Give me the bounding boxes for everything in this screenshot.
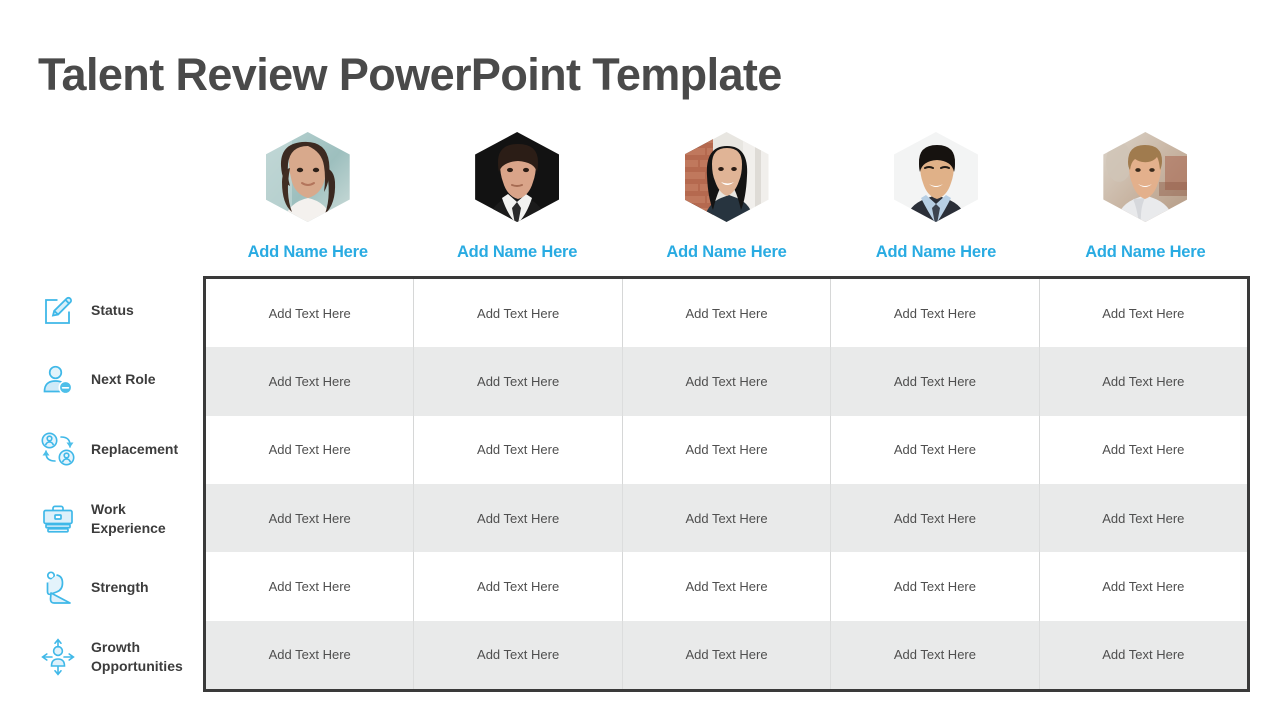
row-label-next-role: Next Role: [30, 345, 203, 414]
person-name-5[interactable]: Add Name Here: [1085, 243, 1205, 262]
slide-canvas: Talent Review PowerPoint Template: [0, 0, 1280, 720]
table-cell[interactable]: Add Text Here: [414, 279, 622, 347]
table-row: Add Text Here Add Text Here Add Text Her…: [206, 416, 1247, 484]
briefcase-icon: [36, 497, 80, 541]
table-cell[interactable]: Add Text Here: [831, 416, 1039, 484]
table-cell[interactable]: Add Text Here: [206, 621, 414, 689]
table-cell[interactable]: Add Text Here: [1040, 416, 1247, 484]
table-cell[interactable]: Add Text Here: [1040, 552, 1247, 620]
table-cell[interactable]: Add Text Here: [206, 484, 414, 552]
table-cell[interactable]: Add Text Here: [1040, 279, 1247, 347]
user-swap-arrows-icon: [36, 427, 80, 471]
table-cell[interactable]: Add Text Here: [206, 552, 414, 620]
table-row: Add Text Here Add Text Here Add Text Her…: [206, 621, 1247, 689]
row-label-text: Growth Opportunities: [91, 638, 195, 676]
row-label-growth-opportunities: Growth Opportunities: [30, 623, 203, 692]
person-column-4[interactable]: Add Name Here: [831, 132, 1040, 262]
row-label-rail: Status Next Role: [30, 276, 203, 692]
table-cell[interactable]: Add Text Here: [831, 279, 1039, 347]
table-row: Add Text Here Add Text Here Add Text Her…: [206, 279, 1247, 347]
table-cell[interactable]: Add Text Here: [414, 621, 622, 689]
table-cell[interactable]: Add Text Here: [206, 347, 414, 415]
row-label-text: Replacement: [91, 440, 178, 459]
user-badge-icon: [36, 358, 80, 402]
table-cell[interactable]: Add Text Here: [623, 416, 831, 484]
row-label-text: Status: [91, 301, 134, 320]
table-cell[interactable]: Add Text Here: [206, 416, 414, 484]
person-name-2[interactable]: Add Name Here: [457, 243, 577, 262]
table-cell[interactable]: Add Text Here: [623, 484, 831, 552]
people-header-row: Add Name Here Add Name Here: [203, 132, 1250, 262]
person-four-arrows-icon: [36, 635, 80, 679]
flexed-arm-icon: [36, 566, 80, 610]
row-label-text: Work Experience: [91, 500, 195, 538]
avatar-woman-brick-background[interactable]: [685, 132, 769, 222]
table-cell[interactable]: Add Text Here: [414, 484, 622, 552]
table-cell[interactable]: Add Text Here: [623, 279, 831, 347]
page-title: Talent Review PowerPoint Template: [38, 48, 782, 102]
row-label-status: Status: [30, 276, 203, 345]
person-name-1[interactable]: Add Name Here: [248, 243, 368, 262]
avatar-man-black-background[interactable]: [475, 132, 559, 222]
row-label-work-experience: Work Experience: [30, 484, 203, 553]
row-label-replacement: Replacement: [30, 415, 203, 484]
row-label-text: Strength: [91, 578, 149, 597]
avatar-man-white-background[interactable]: [894, 132, 978, 222]
table-row: Add Text Here Add Text Here Add Text Her…: [206, 484, 1247, 552]
person-column-2[interactable]: Add Name Here: [412, 132, 621, 262]
table-cell[interactable]: Add Text Here: [414, 416, 622, 484]
table-cell[interactable]: Add Text Here: [1040, 621, 1247, 689]
table-cell[interactable]: Add Text Here: [831, 484, 1039, 552]
table-cell[interactable]: Add Text Here: [831, 552, 1039, 620]
table-cell[interactable]: Add Text Here: [414, 552, 622, 620]
table-cell[interactable]: Add Text Here: [831, 347, 1039, 415]
avatar-woman-teal-background[interactable]: [266, 132, 350, 222]
person-column-3[interactable]: Add Name Here: [622, 132, 831, 262]
table-cell[interactable]: Add Text Here: [206, 279, 414, 347]
person-name-4[interactable]: Add Name Here: [876, 243, 996, 262]
table-cell[interactable]: Add Text Here: [623, 621, 831, 689]
table-cell[interactable]: Add Text Here: [1040, 484, 1247, 552]
person-column-1[interactable]: Add Name Here: [203, 132, 412, 262]
row-label-strength: Strength: [30, 553, 203, 622]
table-cell[interactable]: Add Text Here: [623, 552, 831, 620]
table-row: Add Text Here Add Text Here Add Text Her…: [206, 552, 1247, 620]
talent-review-table: Add Text Here Add Text Here Add Text Her…: [203, 276, 1250, 692]
edit-pencil-square-icon: [36, 289, 80, 333]
avatar-man-warm-background[interactable]: [1103, 132, 1187, 222]
row-label-text: Next Role: [91, 370, 156, 389]
table-cell[interactable]: Add Text Here: [414, 347, 622, 415]
person-column-5[interactable]: Add Name Here: [1041, 132, 1250, 262]
person-name-3[interactable]: Add Name Here: [666, 243, 786, 262]
table-cell[interactable]: Add Text Here: [1040, 347, 1247, 415]
table-row: Add Text Here Add Text Here Add Text Her…: [206, 347, 1247, 415]
table-cell[interactable]: Add Text Here: [831, 621, 1039, 689]
table-cell[interactable]: Add Text Here: [623, 347, 831, 415]
